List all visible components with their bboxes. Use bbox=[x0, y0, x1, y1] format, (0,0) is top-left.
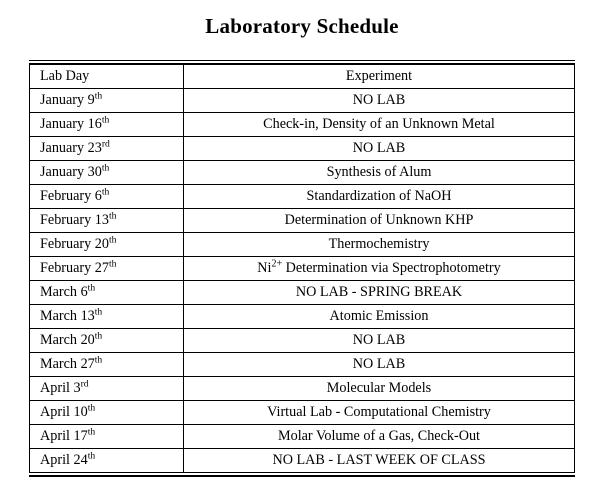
cell-lab-day: April 17th bbox=[30, 425, 184, 449]
cell-experiment: Check-in, Density of an Unknown Metal bbox=[184, 113, 575, 137]
date-ordinal-suffix: th bbox=[95, 306, 102, 317]
date-ordinal-suffix: th bbox=[88, 426, 95, 437]
cell-experiment: NO LAB bbox=[184, 353, 575, 377]
date-ordinal-suffix: th bbox=[109, 258, 116, 269]
table-row: March 27thNO LAB bbox=[30, 353, 575, 377]
cell-experiment: Thermochemistry bbox=[184, 233, 575, 257]
date-ordinal-suffix: th bbox=[88, 282, 95, 293]
cell-experiment: Molar Volume of a Gas, Check-Out bbox=[184, 425, 575, 449]
table-row: February 27thNi2+ Determination via Spec… bbox=[30, 257, 575, 281]
date-ordinal-suffix: th bbox=[95, 90, 102, 101]
cell-lab-day: March 6th bbox=[30, 281, 184, 305]
cell-lab-day: March 27th bbox=[30, 353, 184, 377]
date-ordinal-suffix: th bbox=[102, 186, 109, 197]
table-body: January 9thNO LABJanuary 16thCheck-in, D… bbox=[30, 89, 575, 473]
laboratory-schedule-table: Lab Day Experiment January 9thNO LABJanu… bbox=[29, 64, 575, 473]
cell-experiment: NO LAB - SPRING BREAK bbox=[184, 281, 575, 305]
cell-experiment: NO LAB bbox=[184, 329, 575, 353]
table-row: January 9thNO LAB bbox=[30, 89, 575, 113]
date-ordinal-suffix: th bbox=[102, 162, 109, 173]
table-row: February 20thThermochemistry bbox=[30, 233, 575, 257]
cell-lab-day: April 10th bbox=[30, 401, 184, 425]
cell-experiment: Molecular Models bbox=[184, 377, 575, 401]
date-ordinal-suffix: th bbox=[102, 114, 109, 125]
column-header-experiment: Experiment bbox=[184, 65, 575, 89]
cell-lab-day: February 27th bbox=[30, 257, 184, 281]
cell-experiment: NO LAB bbox=[184, 137, 575, 161]
table-row: April 17thMolar Volume of a Gas, Check-O… bbox=[30, 425, 575, 449]
table-row: January 23rdNO LAB bbox=[30, 137, 575, 161]
table-bottom-rule-outer bbox=[29, 476, 575, 477]
table-row: February 6thStandardization of NaOH bbox=[30, 185, 575, 209]
cell-lab-day: April 3rd bbox=[30, 377, 184, 401]
cell-lab-day: March 20th bbox=[30, 329, 184, 353]
document-page: Laboratory Schedule Lab Day Experiment J… bbox=[0, 0, 604, 493]
table-row: April 10thVirtual Lab - Computational Ch… bbox=[30, 401, 575, 425]
cell-experiment: Virtual Lab - Computational Chemistry bbox=[184, 401, 575, 425]
cell-lab-day: January 23rd bbox=[30, 137, 184, 161]
cell-lab-day: February 6th bbox=[30, 185, 184, 209]
date-ordinal-suffix: rd bbox=[102, 138, 110, 149]
date-ordinal-suffix: th bbox=[95, 354, 102, 365]
cell-experiment: Standardization of NaOH bbox=[184, 185, 575, 209]
chemical-charge-superscript: 2+ bbox=[271, 258, 282, 269]
schedule-table-container: Lab Day Experiment January 9thNO LABJanu… bbox=[29, 60, 575, 477]
table-top-rule-outer bbox=[29, 60, 575, 61]
cell-lab-day: February 20th bbox=[30, 233, 184, 257]
table-header: Lab Day Experiment bbox=[30, 65, 575, 89]
column-header-lab-day: Lab Day bbox=[30, 65, 184, 89]
table-row: March 6thNO LAB - SPRING BREAK bbox=[30, 281, 575, 305]
table-header-row: Lab Day Experiment bbox=[30, 65, 575, 89]
date-ordinal-suffix: th bbox=[109, 210, 116, 221]
date-ordinal-suffix: th bbox=[109, 234, 116, 245]
table-row: March 20thNO LAB bbox=[30, 329, 575, 353]
cell-lab-day: April 24th bbox=[30, 449, 184, 473]
table-row: April 24thNO LAB - LAST WEEK OF CLASS bbox=[30, 449, 575, 473]
cell-experiment: Ni2+ Determination via Spectrophotometry bbox=[184, 257, 575, 281]
table-row: March 13thAtomic Emission bbox=[30, 305, 575, 329]
date-ordinal-suffix: th bbox=[95, 330, 102, 341]
cell-experiment: Atomic Emission bbox=[184, 305, 575, 329]
table-row: April 3rdMolecular Models bbox=[30, 377, 575, 401]
date-ordinal-suffix: th bbox=[88, 450, 95, 461]
cell-lab-day: February 13th bbox=[30, 209, 184, 233]
table-row: February 13thDetermination of Unknown KH… bbox=[30, 209, 575, 233]
table-row: January 16thCheck-in, Density of an Unkn… bbox=[30, 113, 575, 137]
cell-lab-day: March 13th bbox=[30, 305, 184, 329]
date-ordinal-suffix: th bbox=[88, 402, 95, 413]
cell-experiment: Synthesis of Alum bbox=[184, 161, 575, 185]
date-ordinal-suffix: rd bbox=[81, 378, 89, 389]
cell-lab-day: January 9th bbox=[30, 89, 184, 113]
cell-experiment: Determination of Unknown KHP bbox=[184, 209, 575, 233]
table-row: January 30thSynthesis of Alum bbox=[30, 161, 575, 185]
cell-experiment: NO LAB - LAST WEEK OF CLASS bbox=[184, 449, 575, 473]
page-title: Laboratory Schedule bbox=[0, 0, 604, 39]
cell-lab-day: January 30th bbox=[30, 161, 184, 185]
cell-experiment: NO LAB bbox=[184, 89, 575, 113]
cell-lab-day: January 16th bbox=[30, 113, 184, 137]
